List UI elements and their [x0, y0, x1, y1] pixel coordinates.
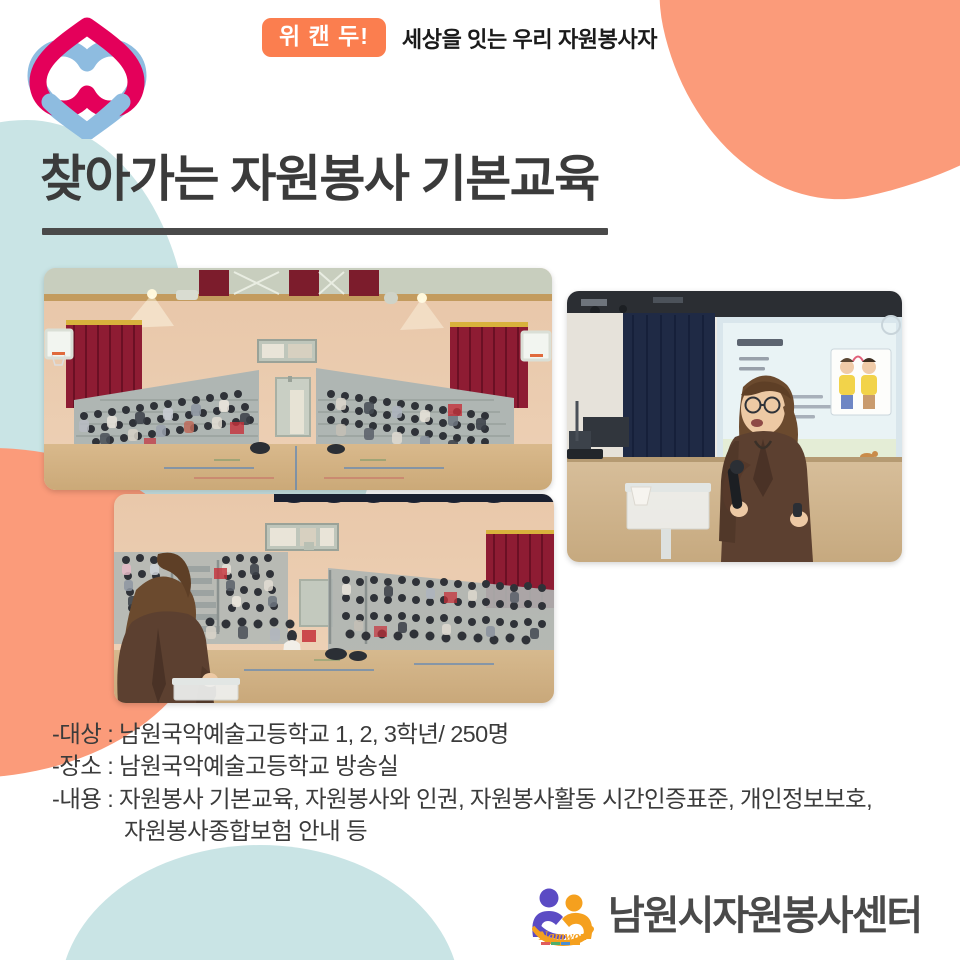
detail-line-content-cont: 자원봉사종합보험 안내 등 [52, 815, 932, 847]
details-block: -대상 : 남원국악예술고등학교 1, 2, 3학년/ 250명 -장소 : 남… [52, 718, 932, 848]
tagline-row: 위 캔 두! 세상을 잇는 우리 자원봉사자 [262, 18, 657, 57]
namwon-two-figures-logo: Namwon [527, 885, 599, 947]
page-title: 찾아가는 자원봉사 기본교육 [40, 152, 599, 206]
photo-gym-back [114, 494, 554, 703]
community-chest-hearts-logo [22, 14, 152, 139]
title-underline-rule [42, 228, 608, 235]
photo-speaker [567, 291, 902, 562]
decorative-blob-coral-top-right [623, 0, 960, 230]
slogan-badge: 위 캔 두! [262, 18, 386, 57]
detail-line-place: -장소 : 남원국악예술고등학교 방송실 [52, 750, 932, 782]
tagline-text: 세상을 잇는 우리 자원봉사자 [402, 22, 657, 54]
detail-line-target: -대상 : 남원국악예술고등학교 1, 2, 3학년/ 250명 [52, 718, 932, 750]
detail-line-content: -내용 : 자원봉사 기본교육, 자원봉사와 인권, 자원봉사활동 시간인증표준… [52, 783, 932, 815]
photo-gym-wide [44, 268, 552, 490]
promo-card: 위 캔 두! 세상을 잇는 우리 자원봉사자 찾아가는 자원봉사 기본교육 [0, 0, 960, 960]
footer-center-name: 남원시자원봉사센터 [608, 896, 921, 936]
svg-text:Namwon: Namwon [538, 928, 587, 943]
footer-logo: Namwon 남원시자원봉사센터 [527, 885, 921, 947]
decorative-blob-teal-bottom [60, 845, 460, 960]
